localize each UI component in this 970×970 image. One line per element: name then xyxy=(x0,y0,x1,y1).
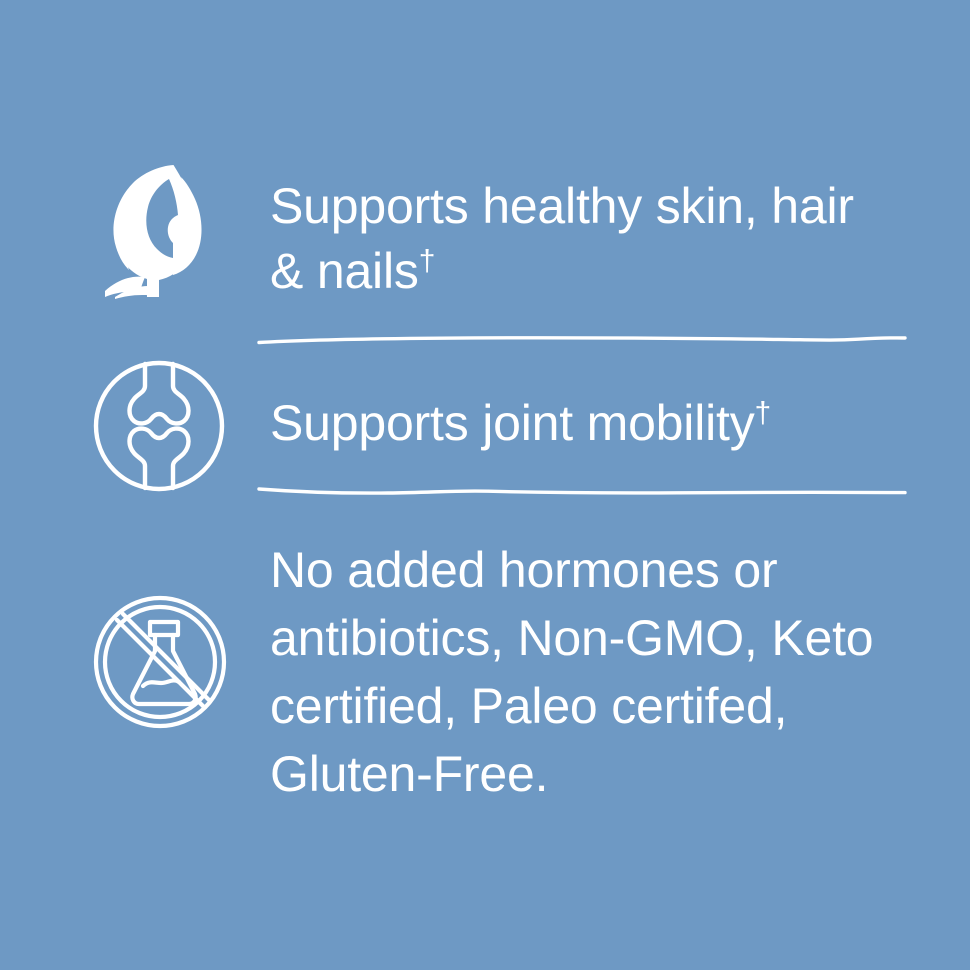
woman-profile-hair-leaf-icon xyxy=(103,163,219,299)
benefit-label-skin-hair-nails: Supports healthy skin, hair & nails† xyxy=(270,174,910,304)
footnote-dagger: † xyxy=(755,396,772,429)
benefit-list: Supports healthy skin, hair & nails† Sup… xyxy=(0,0,970,970)
footnote-dagger: † xyxy=(419,244,436,277)
benefit-label-joint-mobility: Supports joint mobility† xyxy=(270,391,910,456)
benefit-label-clean-sourcing: No added hormones or antibiotics, Non-GM… xyxy=(270,536,930,808)
product-benefits-panel: Supports healthy skin, hair & nails† Sup… xyxy=(0,0,970,970)
bone-joint-circle-icon xyxy=(93,360,225,492)
divider-after-skin xyxy=(258,333,906,347)
no-chemicals-flask-icon xyxy=(93,594,227,730)
divider-after-joint xyxy=(258,484,906,498)
